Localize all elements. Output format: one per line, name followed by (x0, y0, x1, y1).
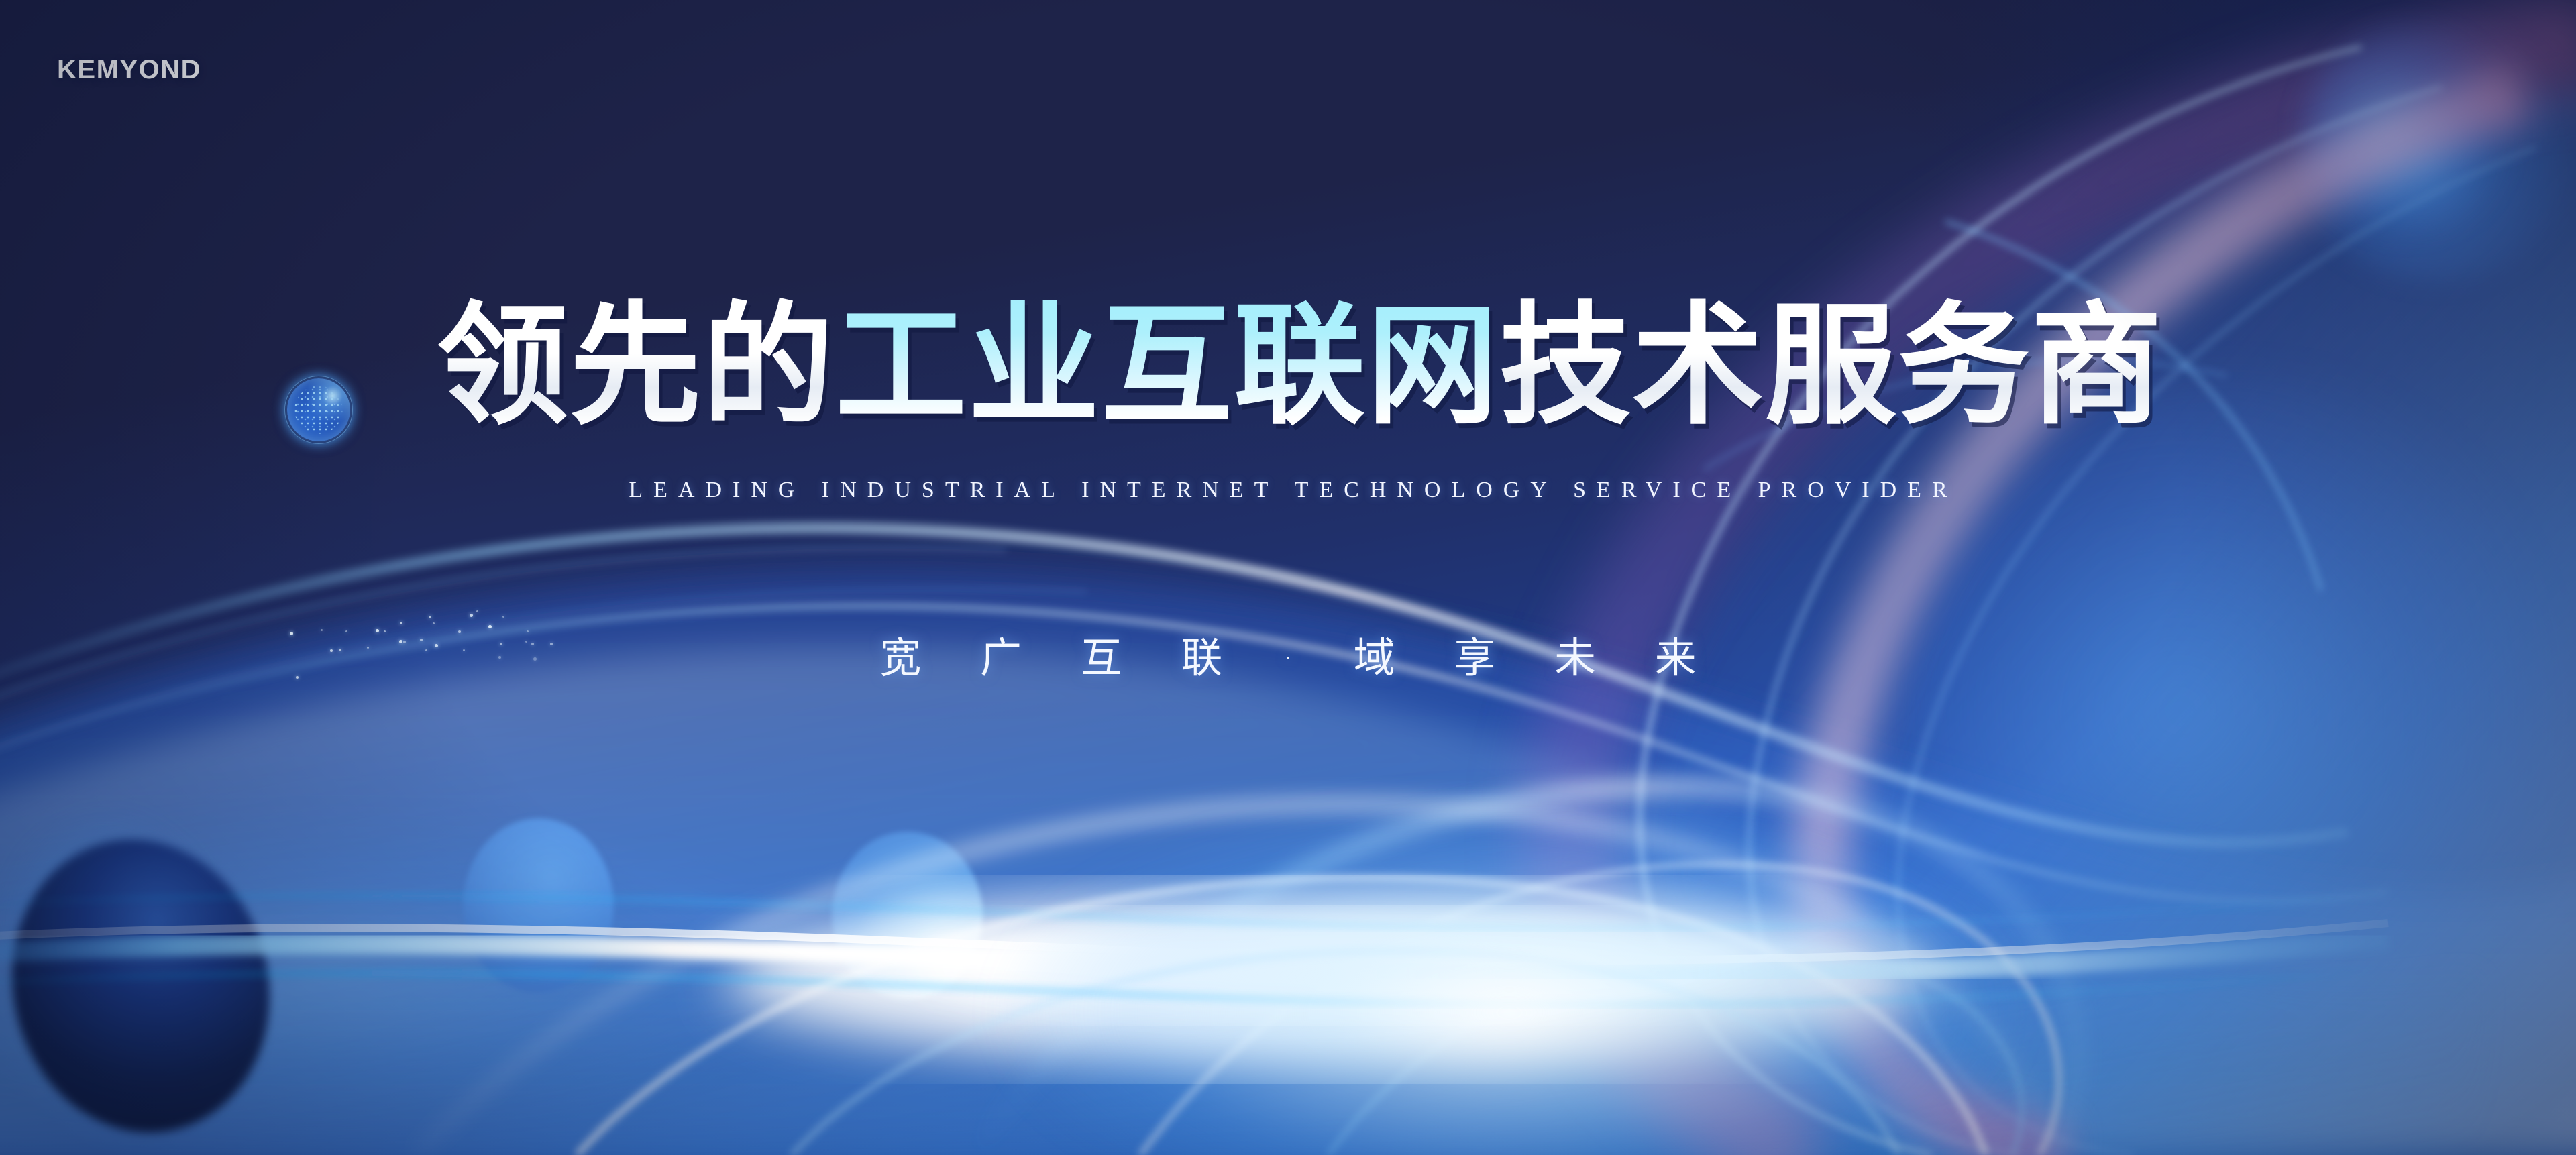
left-low-glow (0, 825, 832, 1113)
blue-sphere-right (832, 832, 983, 999)
ribbon-layer-back (0, 0, 2576, 1155)
dark-sphere-highlight (0, 787, 222, 977)
ribbon-outline-2 (1749, 87, 2442, 1155)
ribbon-center-loop-2 (1140, 865, 2059, 1155)
ribbon-sweep-upper (0, 528, 2348, 842)
ribbon-layer-front (0, 0, 2576, 1155)
brand-tagline: 宽 广 互 联 · 域 享 未 来 (0, 624, 2576, 684)
headline-part-3: 技术服务商 (1499, 290, 2163, 443)
particle-dots (0, 0, 2576, 1155)
ribbon-right-body (1647, 80, 2576, 1155)
brand-logo[interactable]: KEMYOND (57, 55, 201, 85)
marketing-banner: KEMYOND 领先的工业互联网技术服务商 LEADING INDUSTRIAL… (0, 0, 2576, 1155)
ribbon-front-arc-3 (792, 951, 1898, 1155)
light-streak-cyan-upper (0, 892, 2402, 928)
blue-sphere-left (463, 818, 614, 993)
ribbon-broad-band (0, 646, 2482, 1155)
headline-part-1: 领先的 (437, 290, 835, 443)
page-title: 领先的工业互联网技术服务商 (0, 300, 2576, 432)
dark-sphere (0, 812, 301, 1155)
ribbon-layer-mid (0, 0, 2576, 1155)
top-right-glow (2294, 13, 2576, 282)
ribbon-pink-wide (1568, 40, 2576, 1155)
right-mid-glow (1912, 376, 2576, 1046)
ribbon-front-arc-2 (577, 878, 1986, 1155)
light-bloom-core (926, 916, 1758, 1016)
ribbon-center-loop-1 (973, 787, 2078, 1155)
horizontal-light-streak (0, 939, 2388, 975)
light-bloom (724, 892, 1932, 1066)
headline-part-2: 工业互联网 (835, 290, 1499, 443)
horizontal-light-streak-core (0, 923, 2388, 960)
light-streak-cyan-lower (0, 967, 2402, 1005)
vignette-overlay (0, 0, 2576, 1155)
top-right-orb (2308, 27, 2509, 228)
ribbon-outline-1 (1640, 47, 2361, 1155)
ribbon-center-loop-3 (1328, 945, 2021, 1155)
center-light-bloom (1006, 805, 2012, 1155)
ribbon-front-arc-1 (416, 804, 2053, 1155)
headline-subtitle: LEADING INDUSTRIAL INTERNET TECHNOLOGY S… (0, 478, 2576, 503)
